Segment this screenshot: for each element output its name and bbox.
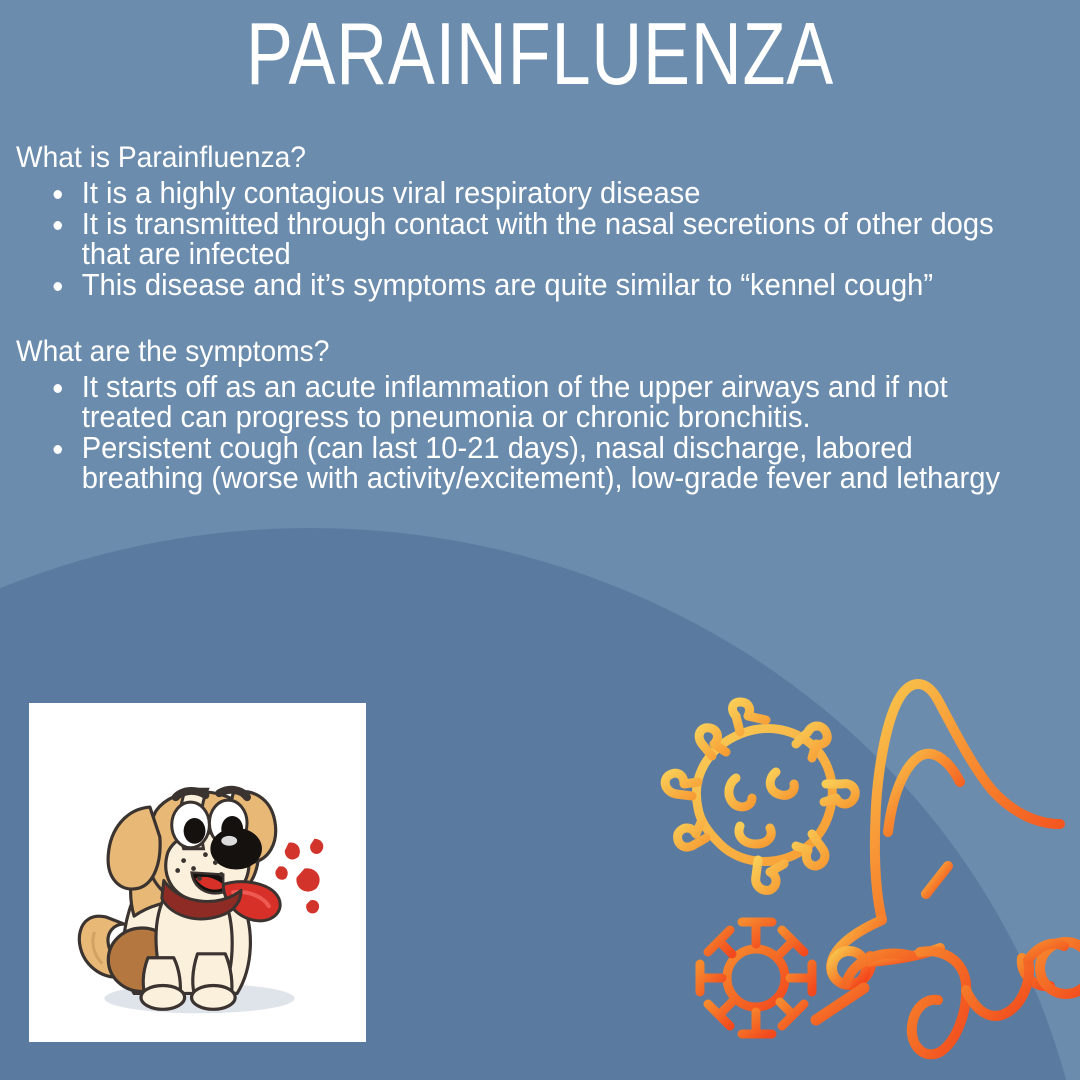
list-item-text: It is transmitted through contact with t… — [82, 206, 994, 271]
list-item-text: It starts off as an acute inflammation o… — [82, 369, 948, 434]
body-copy: What is Parainfluenza? It is a highly co… — [16, 140, 1066, 494]
bullet-dot-icon — [54, 190, 62, 199]
page-title: PARAINFLUENZA — [108, 6, 972, 102]
list-item-text: Persistent cough (can last 10-21 days), … — [82, 430, 1000, 495]
bullet-dot-icon — [54, 282, 62, 291]
list-item: This disease and it’s symptoms are quite… — [46, 270, 1005, 300]
poster-canvas: PARAINFLUENZA What is Parainfluenza? It … — [0, 0, 1080, 1080]
bullet-dot-icon — [54, 384, 62, 393]
bullet-dot-icon — [54, 445, 62, 454]
section-heading: What is Parainfluenza? — [16, 140, 1003, 176]
lineart-svg — [620, 660, 1080, 1080]
bullet-list: It is a highly contagious viral respirat… — [16, 178, 1066, 300]
section-symptoms: What are the symptoms? It starts off as … — [16, 334, 1066, 493]
lineart-illustration-group — [620, 660, 1080, 1080]
germ-burst-icon — [700, 922, 812, 1034]
bullet-dot-icon — [54, 221, 62, 230]
cartoon-dog-illustration — [29, 703, 366, 1042]
section-what-is: What is Parainfluenza? It is a highly co… — [16, 140, 1066, 300]
list-item: It is a highly contagious viral respirat… — [46, 178, 1005, 208]
dog-photo-card — [29, 703, 366, 1042]
bullet-list: It starts off as an acute inflammation o… — [16, 372, 1066, 493]
list-item-text: It is a highly contagious viral respirat… — [82, 175, 701, 210]
list-item: It is transmitted through contact with t… — [46, 209, 1005, 269]
list-item: Persistent cough (can last 10-21 days), … — [46, 433, 1005, 493]
list-item-text: This disease and it’s symptoms are quite… — [82, 267, 933, 302]
list-item: It starts off as an acute inflammation o… — [46, 372, 1005, 432]
virus-cell-icon — [665, 702, 855, 890]
section-heading: What are the symptoms? — [16, 334, 1003, 370]
